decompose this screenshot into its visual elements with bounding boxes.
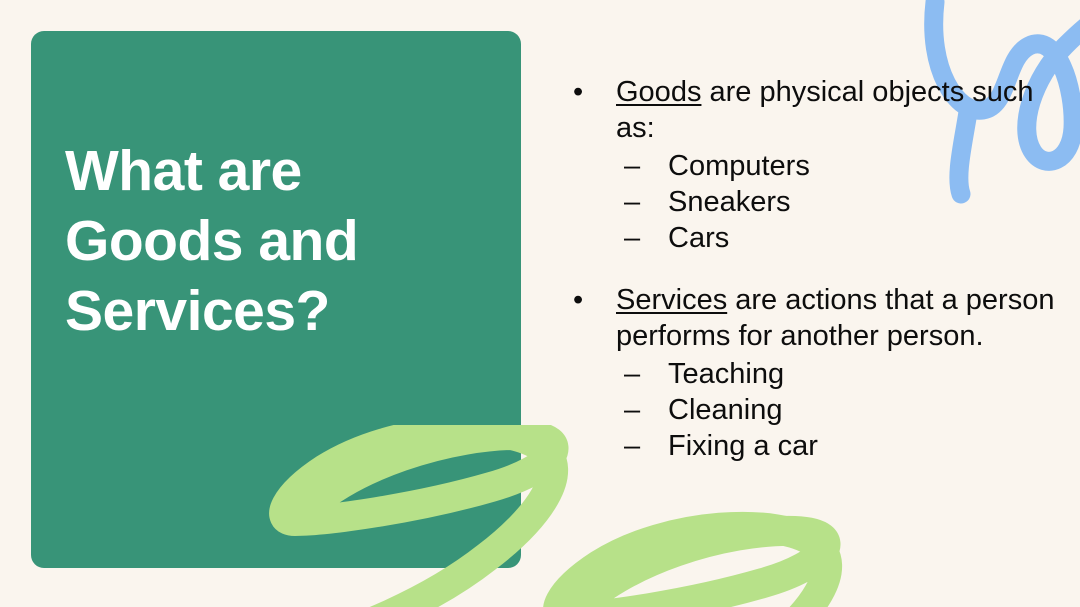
sub-list-item-label: Cars [668, 222, 729, 254]
dash-marker-icon: – [624, 428, 640, 464]
sub-list-item-label: Teaching [668, 358, 784, 390]
bullet-group-services: • Services are actions that a person per… [562, 282, 1062, 464]
sub-list-item-label: Sneakers [668, 186, 791, 218]
page-title: What are Goods and Services? [65, 136, 485, 346]
sub-list-services: – Teaching – Cleaning – Fixing a car [562, 356, 1062, 464]
dash-marker-icon: – [624, 356, 640, 392]
sub-list-item: – Teaching [562, 356, 1062, 392]
bullet-lead-term-services: Services [616, 284, 727, 316]
bullet-marker-icon: • [573, 74, 583, 110]
sub-list-item: – Cleaning [562, 392, 1062, 428]
sub-list-item: – Computers [562, 148, 1062, 184]
sub-list-item: – Fixing a car [562, 428, 1062, 464]
dash-marker-icon: – [624, 220, 640, 256]
title-card: What are Goods and Services? [31, 31, 521, 568]
dash-marker-icon: – [624, 392, 640, 428]
bullet-marker-icon: • [573, 282, 583, 318]
page-title-line-2: Goods and [65, 206, 485, 276]
dash-marker-icon: – [624, 184, 640, 220]
sub-list-item-label: Fixing a car [668, 430, 818, 462]
sub-list-item-label: Cleaning [668, 394, 782, 426]
bullet-item-goods: • Goods are physical objects such as: [562, 74, 1062, 146]
sub-list-item: – Sneakers [562, 184, 1062, 220]
sub-list-item: – Cars [562, 220, 1062, 256]
sub-list-goods: – Computers – Sneakers – Cars [562, 148, 1062, 256]
bullet-group-goods: • Goods are physical objects such as: – … [562, 74, 1062, 256]
sub-list-item-label: Computers [668, 150, 810, 182]
content-body: • Goods are physical objects such as: – … [562, 74, 1062, 464]
bullet-lead-term-goods: Goods [616, 76, 701, 108]
dash-marker-icon: – [624, 148, 640, 184]
bullet-item-services: • Services are actions that a person per… [562, 282, 1062, 354]
slide-canvas: What are Goods and Services? • Goods are… [0, 0, 1080, 607]
page-title-line-1: What are [65, 136, 485, 206]
page-title-line-3: Services? [65, 276, 485, 346]
